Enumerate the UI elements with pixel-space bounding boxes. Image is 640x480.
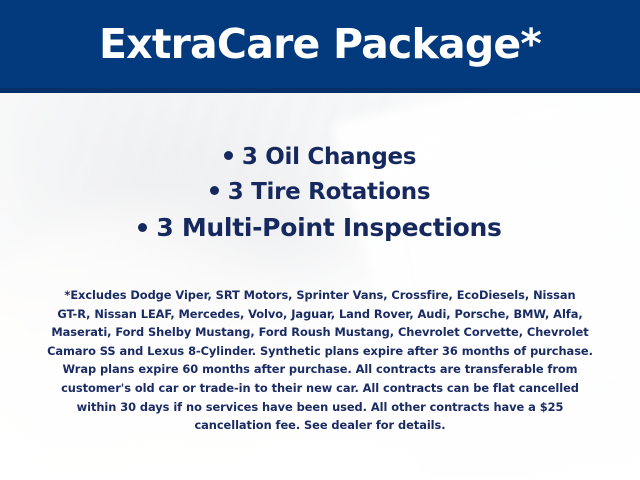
- disclaimer-line: *Excludes Dodge Viper, SRT Motors, Sprin…: [30, 286, 610, 305]
- page-title: ExtraCare Package*: [0, 19, 640, 69]
- benefit-item-multi-point-inspections: 3 Multi-Point Inspections: [0, 210, 640, 245]
- benefit-item-oil-changes: 3 Oil Changes: [0, 140, 640, 175]
- bullet-dot-icon: [210, 186, 219, 195]
- disclaimer-line: cancellation fee. See dealer for details…: [30, 416, 610, 435]
- disclaimer-line: customer's old car or trade-in to their …: [30, 379, 610, 398]
- benefit-label: 3 Tire Rotations: [228, 179, 431, 205]
- benefit-label: 3 Oil Changes: [242, 144, 416, 170]
- benefit-item-tire-rotations: 3 Tire Rotations: [0, 175, 640, 210]
- disclaimer-line: Maserati, Ford Shelby Mustang, Ford Rous…: [30, 323, 610, 342]
- disclaimer-line: Wrap plans expire 60 months after purcha…: [30, 360, 610, 379]
- header-divider: [0, 88, 640, 93]
- disclaimer-line: within 30 days if no services have been …: [30, 398, 610, 417]
- extracare-package-banner: ExtraCare Package* 3 Oil Changes 3 Tire …: [0, 0, 640, 480]
- benefits-list: 3 Oil Changes 3 Tire Rotations 3 Multi-P…: [0, 140, 640, 245]
- benefit-label: 3 Multi-Point Inspections: [156, 213, 501, 242]
- disclaimer-line: Camaro SS and Lexus 8-Cylinder. Syntheti…: [30, 342, 610, 361]
- bullet-dot-icon: [138, 223, 147, 232]
- disclaimer-text: *Excludes Dodge Viper, SRT Motors, Sprin…: [30, 286, 610, 435]
- bullet-dot-icon: [224, 151, 233, 160]
- disclaimer-line: GT-R, Nissan LEAF, Mercedes, Volvo, Jagu…: [30, 305, 610, 324]
